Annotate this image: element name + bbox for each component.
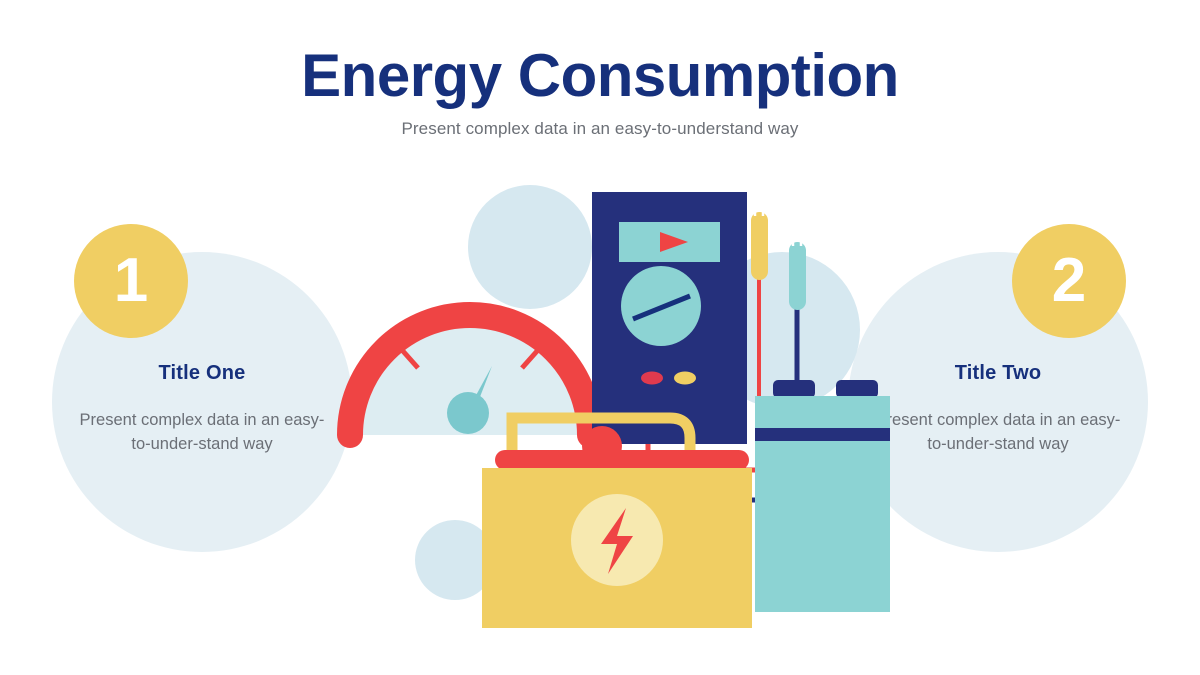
probe-teal-handle <box>789 242 806 310</box>
group-one-title: Title One <box>74 362 330 385</box>
step-number-badge-1: 1 <box>74 224 188 338</box>
page-subtitle: Present complex data in an easy-to-under… <box>0 119 1200 139</box>
slide-canvas: Energy Consumption Present complex data … <box>0 0 1200 675</box>
group-two-text: Title Two Present complex data in an eas… <box>870 362 1126 457</box>
group-one-text: Title One Present complex data in an eas… <box>74 362 330 457</box>
content-group-two[interactable]: 2 Title Two Present complex data in an e… <box>848 252 1148 552</box>
energy-measurement-illustration <box>330 170 890 640</box>
group-one-body: Present complex data in an easy-to-under… <box>74 409 330 457</box>
port-yellow <box>674 372 696 385</box>
battery-yellow <box>482 418 752 628</box>
page-title: Energy Consumption <box>0 44 1200 107</box>
group-two-title: Title Two <box>870 362 1126 385</box>
group-two-body: Present complex data in an easy-to-under… <box>870 409 1126 457</box>
step-number-badge-2: 2 <box>1012 224 1126 338</box>
gauge-needle-hub <box>447 392 489 434</box>
probe-yellow-handle <box>751 212 768 280</box>
content-group-one[interactable]: 1 Title One Present complex data in an e… <box>52 252 352 552</box>
multimeter-device <box>592 192 747 444</box>
decor-circle-top <box>468 185 592 309</box>
battery-yellow-top-strip <box>495 450 749 470</box>
header: Energy Consumption Present complex data … <box>0 44 1200 139</box>
battery-teal-terminal-left <box>773 380 815 398</box>
battery-teal <box>755 380 890 612</box>
port-red <box>641 372 663 385</box>
battery-yellow-knob <box>582 426 622 466</box>
battery-teal-terminal-right <box>836 380 878 398</box>
battery-teal-stripe <box>755 428 890 441</box>
